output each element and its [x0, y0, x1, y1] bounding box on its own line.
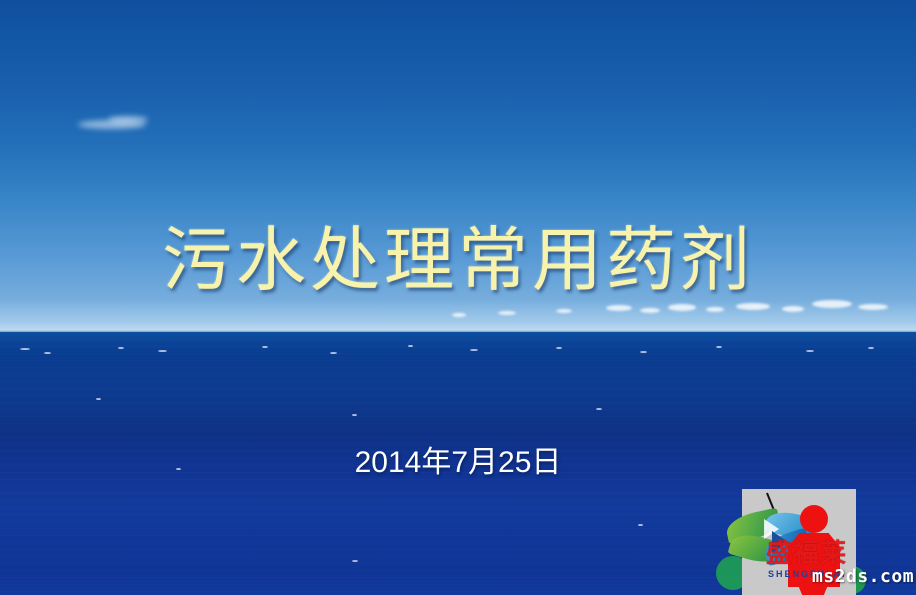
- water-sparkle: [44, 352, 51, 354]
- water-sparkle: [716, 346, 722, 348]
- water-sparkle: [596, 408, 602, 410]
- water-sparkle: [868, 347, 874, 349]
- cloud-horizon-10: [498, 311, 516, 315]
- cloud-horizon-2: [640, 308, 660, 313]
- cloud-wisp-upper-left-2: [108, 116, 148, 123]
- site-watermark: ms2ds.com: [812, 566, 914, 588]
- water-sparkle: [638, 524, 643, 526]
- cloud-horizon-4: [706, 307, 724, 312]
- water-sparkle: [556, 347, 562, 349]
- water-sparkle: [408, 345, 413, 347]
- water-sparkle: [262, 346, 268, 348]
- presentation-slide: 污水处理常用药剂 2014年7月25日 盛福莱 SHENGFULAI ms2ds…: [0, 0, 916, 595]
- water-sparkle: [96, 398, 101, 400]
- slide-date: 2014年7月25日: [0, 444, 916, 482]
- water-sparkle: [352, 560, 358, 562]
- cloud-horizon-11: [452, 313, 466, 317]
- water-sparkle: [352, 414, 357, 416]
- logo-figure-head-icon: [800, 505, 828, 533]
- water-sparkle: [20, 348, 30, 350]
- slide-title: 污水处理常用药剂: [0, 214, 916, 306]
- water-sparkle: [330, 352, 337, 354]
- cloud-horizon-6: [782, 306, 804, 312]
- water-sparkle: [118, 347, 124, 349]
- water-sparkle: [158, 350, 167, 352]
- water-sparkle: [806, 350, 814, 352]
- cloud-horizon-9: [556, 309, 572, 313]
- water-sparkle: [640, 351, 647, 353]
- logo-wordmark-cn: 盛福莱: [766, 541, 886, 567]
- water-sparkle: [470, 349, 478, 351]
